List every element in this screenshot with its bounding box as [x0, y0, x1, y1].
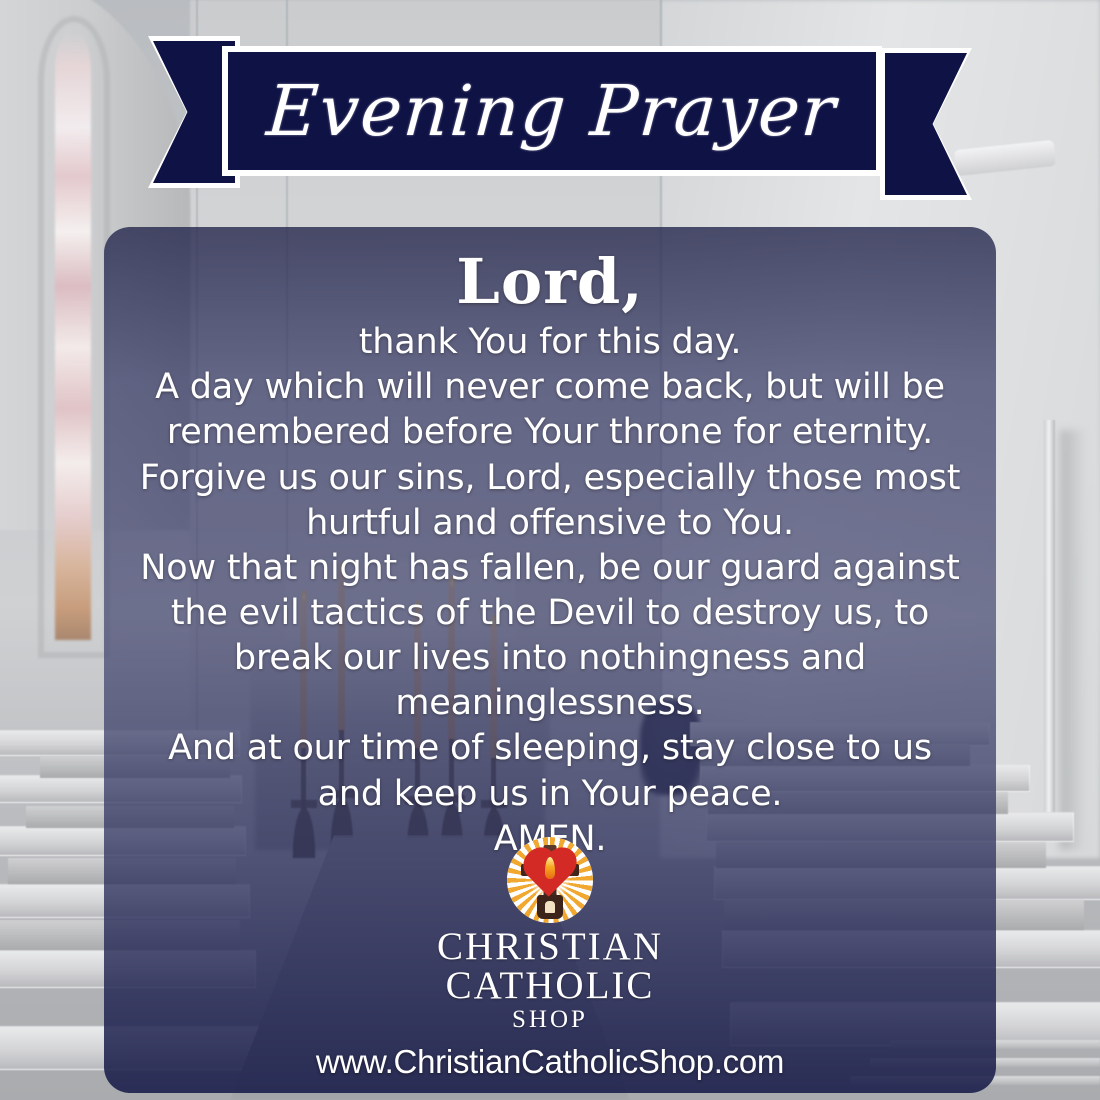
prayer-body: thank You for this day. A day which will… [140, 320, 961, 862]
prayer-line: the evil tactics of the Devil to destroy… [140, 591, 961, 636]
prayer-line: thank You for this day. [140, 320, 961, 365]
brand-logo-block: CHRISTIAN CATHOLIC SHOP www.ChristianCat… [104, 837, 996, 1081]
wall-pipe [1044, 420, 1055, 840]
prayer-salutation: Lord, [456, 249, 644, 314]
flame-icon [545, 857, 555, 879]
ribbon-plate-inner: Evening Prayer [228, 52, 876, 170]
prayer-poster: Evening Prayer Lord, thank You for this … [0, 0, 1100, 1100]
prayer-panel: Lord, thank You for this day. A day whic… [104, 227, 996, 1093]
brand-line-christian: CHRISTIAN [437, 927, 663, 966]
prayer-line: hurtful and offensive to You. [140, 501, 961, 546]
header-ribbon: Evening Prayer [0, 0, 1100, 210]
sacred-heart-cross-sunburst-icon [507, 837, 593, 923]
prayer-line: meaninglessness. [140, 681, 961, 726]
website-url[interactable]: www.ChristianCatholicShop.com [316, 1043, 784, 1081]
prayer-line: Now that night has fallen, be our guard … [140, 546, 961, 591]
page-title: Evening Prayer [265, 76, 839, 146]
ribbon-plate: Evening Prayer [222, 46, 882, 176]
prayer-panel-inner: Lord, thank You for this day. A day whic… [104, 227, 996, 1093]
brand-line-catholic: CATHOLIC [446, 966, 655, 1005]
prayer-line: A day which will never come back, but wi… [140, 365, 961, 410]
pipe-shadow [1060, 430, 1086, 850]
prayer-line: remembered before Your throne for eterni… [140, 410, 961, 455]
cross-base-icon [537, 895, 563, 919]
ribbon-tail-right [880, 48, 972, 200]
brand-line-shop: SHOP [512, 1006, 588, 1034]
prayer-line: And at our time of sleeping, stay close … [140, 726, 961, 771]
prayer-line: break our lives into nothingness and [140, 636, 961, 681]
prayer-line: and keep us in Your peace. [140, 772, 961, 817]
prayer-line: Forgive us our sins, Lord, especially th… [140, 456, 961, 501]
